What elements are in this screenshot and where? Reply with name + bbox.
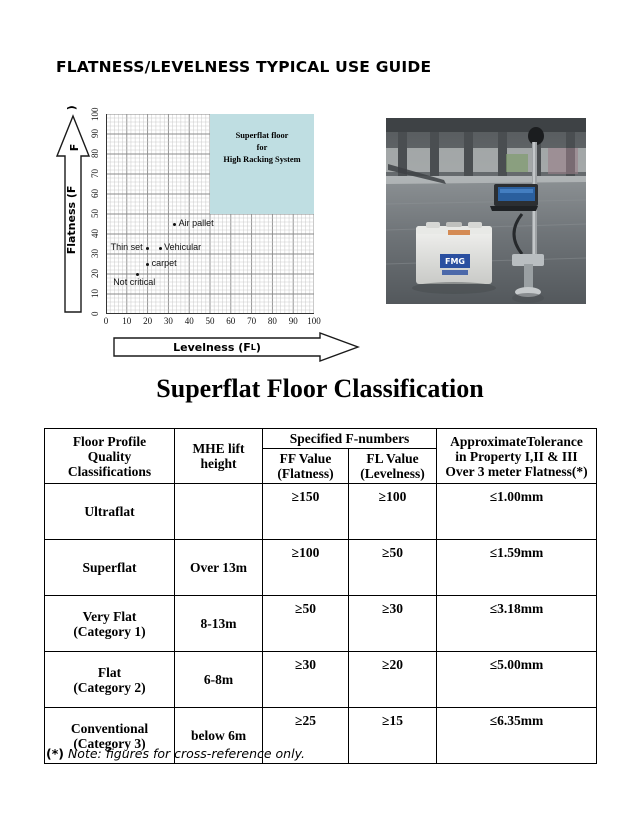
y-axis-tick: 80 [86,149,104,159]
cell-fl-value: ≥20 [349,652,437,708]
y-axis-tick: 40 [86,229,104,239]
warehouse-floor-profiler-photo: FMG [386,118,586,304]
cell-ff-value: ≥50 [263,596,349,652]
cell-tolerance: ≤1.00mm [437,484,597,540]
header-mhe-line-1: MHE lift [178,441,259,456]
classification-line: Ultraflat [48,504,171,519]
footnote-text: Note: figures for cross-reference only. [64,746,305,761]
data-point-marker [146,263,149,266]
x-axis-label: Levelness (FL) [112,332,322,362]
header-ff-line-2: (Flatness) [266,466,345,481]
table-row: Ultraflat≥150≥100≤1.00mm [45,484,597,540]
cell-tolerance: ≤5.00mm [437,652,597,708]
superflat-zone-region: Superflat floor for High Racking System [210,114,314,214]
cell-classification: Ultraflat [45,484,175,540]
cell-fl-value: ≥15 [349,708,437,764]
plot-area: Superflat floor for High Racking System … [106,114,314,314]
classification-line: Superflat [48,560,171,575]
y-axis-label-sub: F [68,144,81,186]
flatness-levelness-chart: Flatness (FF) 0102030405060708090100 Sup… [0,100,640,375]
cell-fl-value: ≥50 [349,540,437,596]
floor-classification-table: Floor Profile Quality Classifications MH… [44,428,597,764]
x-axis-label-text: Levelness (F [173,341,251,354]
cell-classification: Superflat [45,540,175,596]
cell-classification: Flat(Category 2) [45,652,175,708]
cell-tolerance: ≤6.35mm [437,708,597,764]
data-point-marker [146,247,149,250]
y-axis-tick: 60 [86,189,104,199]
cell-fl-value: ≥100 [349,484,437,540]
header-specified-f-numbers: Specified F-numbers [263,429,437,449]
classification-line: Conventional [48,721,171,736]
header-approximate-tolerance: ApproximateTolerance in Property I,II & … [437,429,597,484]
y-axis-tick: 90 [86,129,104,139]
superflat-zone-line-3: High Racking System [223,154,300,166]
header-ff-line-1: FF Value [266,451,345,466]
classification-line: (Category 1) [48,624,171,639]
header-fl-line-2: (Levelness) [352,466,433,481]
data-point-marker [136,273,139,276]
superflat-zone-line-2: for [223,142,300,154]
x-axis-label-tail: ) [256,341,261,354]
x-axis-line [106,313,314,314]
cell-fl-value: ≥30 [349,596,437,652]
header-classification: Floor Profile Quality Classifications [45,429,175,484]
y-axis-label-tail: ) [65,105,78,144]
y-axis-tick: 10 [86,289,104,299]
cell-ff-value: ≥100 [263,540,349,596]
header-classification-line-3: Classifications [48,464,171,479]
cell-mhe-lift-height: 6-8m [175,652,263,708]
footnote-marker: (*) [46,746,64,761]
header-tolerance-line-1: ApproximateTolerance [440,434,593,449]
y-axis-tick-labels: 0102030405060708090100 [86,110,104,318]
table-header: Floor Profile Quality Classifications MH… [45,429,597,484]
data-point-label: Thin set [111,242,143,252]
classification-line: Very Flat [48,609,171,624]
section-heading: Superflat Floor Classification [0,374,640,404]
cell-ff-value: ≥30 [263,652,349,708]
y-axis-label-text: Flatness (F [65,186,78,289]
table-row: SuperflatOver 13m≥100≥50≤1.59mm [45,540,597,596]
data-point-label: carpet [152,258,177,268]
table-row: Very Flat(Category 1)8-13m≥50≥30≤3.18mm [45,596,597,652]
cell-mhe-lift-height: 8-13m [175,596,263,652]
header-mhe-lift-height: MHE lift height [175,429,263,484]
data-point-marker [159,247,162,250]
cell-mhe-lift-height: Over 13m [175,540,263,596]
x-axis-tick-labels: 0102030405060708090100 [106,316,314,330]
header-fl-line-1: FL Value [352,451,433,466]
page-title: FLATNESS/LEVELNESS TYPICAL USE GUIDE [56,58,431,76]
header-classification-line-1: Floor Profile [48,434,171,449]
data-point-marker [173,223,176,226]
header-ff-value: FF Value (Flatness) [263,449,349,484]
y-axis-line [106,114,107,314]
classification-line: Flat [48,665,171,680]
cell-tolerance: ≤1.59mm [437,540,597,596]
header-classification-line-2: Quality [48,449,171,464]
data-point-label: Not critical [113,277,155,287]
cell-ff-value: ≥150 [263,484,349,540]
y-axis-tick: 100 [86,109,104,119]
header-mhe-line-2: height [178,456,259,471]
y-axis-tick: 50 [86,209,104,219]
header-tolerance-line-2: in Property I,II & III [440,449,593,464]
svg-text:FMG: FMG [445,257,465,266]
superflat-zone-line-1: Superflat floor [223,130,300,142]
table-header-row-1: Floor Profile Quality Classifications MH… [45,429,597,449]
table-row: Flat(Category 2)6-8m≥30≥20≤5.00mm [45,652,597,708]
y-axis-tick: 20 [86,269,104,279]
cell-tolerance: ≤3.18mm [437,596,597,652]
cell-mhe-lift-height [175,484,263,540]
table-body: Ultraflat≥150≥100≤1.00mmSuperflatOver 13… [45,484,597,764]
header-fl-value: FL Value (Levelness) [349,449,437,484]
x-axis-tick: 100 [302,316,326,326]
y-axis-tick: 70 [86,169,104,179]
footnote: (*) Note: figures for cross-reference on… [46,746,305,761]
header-tolerance-line-3: Over 3 meter Flatness(*) [440,464,593,479]
data-point-label: Air pallet [179,218,214,228]
classification-line: (Category 2) [48,680,171,695]
data-point-label: Vehicular [164,242,201,252]
y-axis-tick: 30 [86,249,104,259]
y-axis-label: Flatness (FF) [56,114,90,314]
cell-classification: Very Flat(Category 1) [45,596,175,652]
